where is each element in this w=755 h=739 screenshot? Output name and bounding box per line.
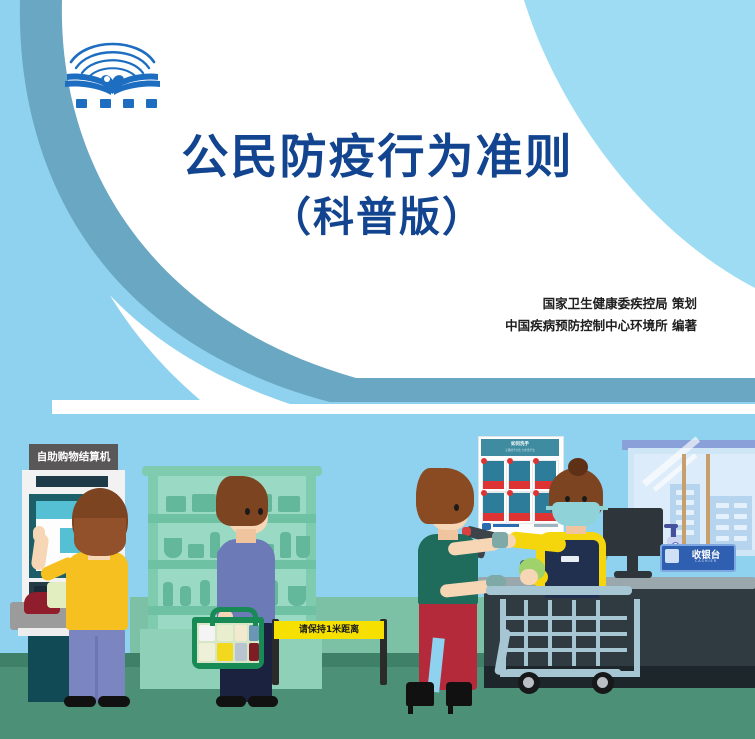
- cashier-hand-lower: [520, 569, 538, 585]
- shopper3-sleeve: [418, 542, 444, 588]
- shopper2-neck: [236, 529, 256, 543]
- mask-strap: [546, 506, 556, 510]
- shopper2-shoe: [216, 696, 246, 707]
- credit-line-author: 中国疾病预防控制中心环境所 编著: [505, 315, 697, 337]
- window-mullion: [682, 454, 686, 550]
- shopper3-heel: [448, 702, 453, 714]
- book-heart-logo-icon: [55, 28, 170, 110]
- shopper3-eye: [454, 504, 459, 511]
- shopper3-heel: [408, 702, 413, 714]
- cashier-sign-icon: [665, 549, 679, 563]
- monitor-stand: [627, 556, 638, 572]
- shopper1-hair-back: [74, 518, 126, 556]
- cashier-hair-bun: [568, 458, 588, 476]
- shopper1-shoe: [64, 696, 96, 707]
- supermarket-illustration: 如何洗手 正确洗手方法 七步洗手法 自助购物结算机: [0, 414, 755, 739]
- cart-wheel-hub: [523, 677, 534, 688]
- credit-line-planner: 国家卫生健康委疾控局 策划: [505, 293, 697, 315]
- shopper1-leg-split: [95, 636, 98, 702]
- cdc-science-logo: [55, 28, 170, 110]
- shopper2-hair-front: [216, 476, 246, 524]
- shelf-top: [142, 466, 322, 476]
- cashier-face-mask: [552, 502, 600, 526]
- credits: 国家卫生健康委疾控局 策划 中国疾病预防控制中心环境所 编著: [505, 293, 697, 337]
- poster-header-text: 如何洗手: [481, 441, 559, 447]
- shopper2-eye: [245, 508, 250, 515]
- distance-tape-label: 请保持1米距离: [274, 621, 384, 639]
- shopper1-hand: [33, 526, 45, 542]
- basket-handle: [210, 607, 258, 626]
- shopper2-shoe: [248, 696, 278, 707]
- shopper2-eye: [258, 508, 263, 515]
- poster-footer: [482, 522, 558, 531]
- cart-handle[interactable]: [486, 586, 632, 595]
- cover-text-block: 公民防疫行为准则 （科普版） 国家卫生健康委疾控局 策划 中国疾病预防控制中心环…: [0, 0, 755, 420]
- shopping-cart-basket: [500, 599, 640, 677]
- page-title: 公民防疫行为准则: [0, 118, 755, 187]
- window-mullion: [706, 454, 710, 550]
- cover-page: 公民防疫行为准则 （科普版） 国家卫生健康委疾控局 策划 中国疾病预防控制中心环…: [0, 0, 755, 739]
- monitor-foot: [614, 571, 652, 578]
- cashier-sign-sublabel: CASHIER: [684, 559, 728, 563]
- shopper3-hand-upper: [492, 532, 508, 548]
- cart-wheel-hub: [597, 677, 608, 688]
- cashier-monitor: [603, 508, 663, 556]
- self-checkout-sign: 自助购物结算机: [29, 444, 118, 470]
- page-subtitle: （科普版）: [0, 183, 755, 243]
- shopper1-shoe: [98, 696, 130, 707]
- shopper3-hair-front: [416, 468, 444, 524]
- mask-strap: [598, 506, 608, 510]
- poster-subheader-text: 正确洗手方法 七步洗手法: [481, 448, 559, 452]
- cashier-name-badge: [561, 556, 579, 562]
- kiosk-top-bar: [36, 476, 108, 487]
